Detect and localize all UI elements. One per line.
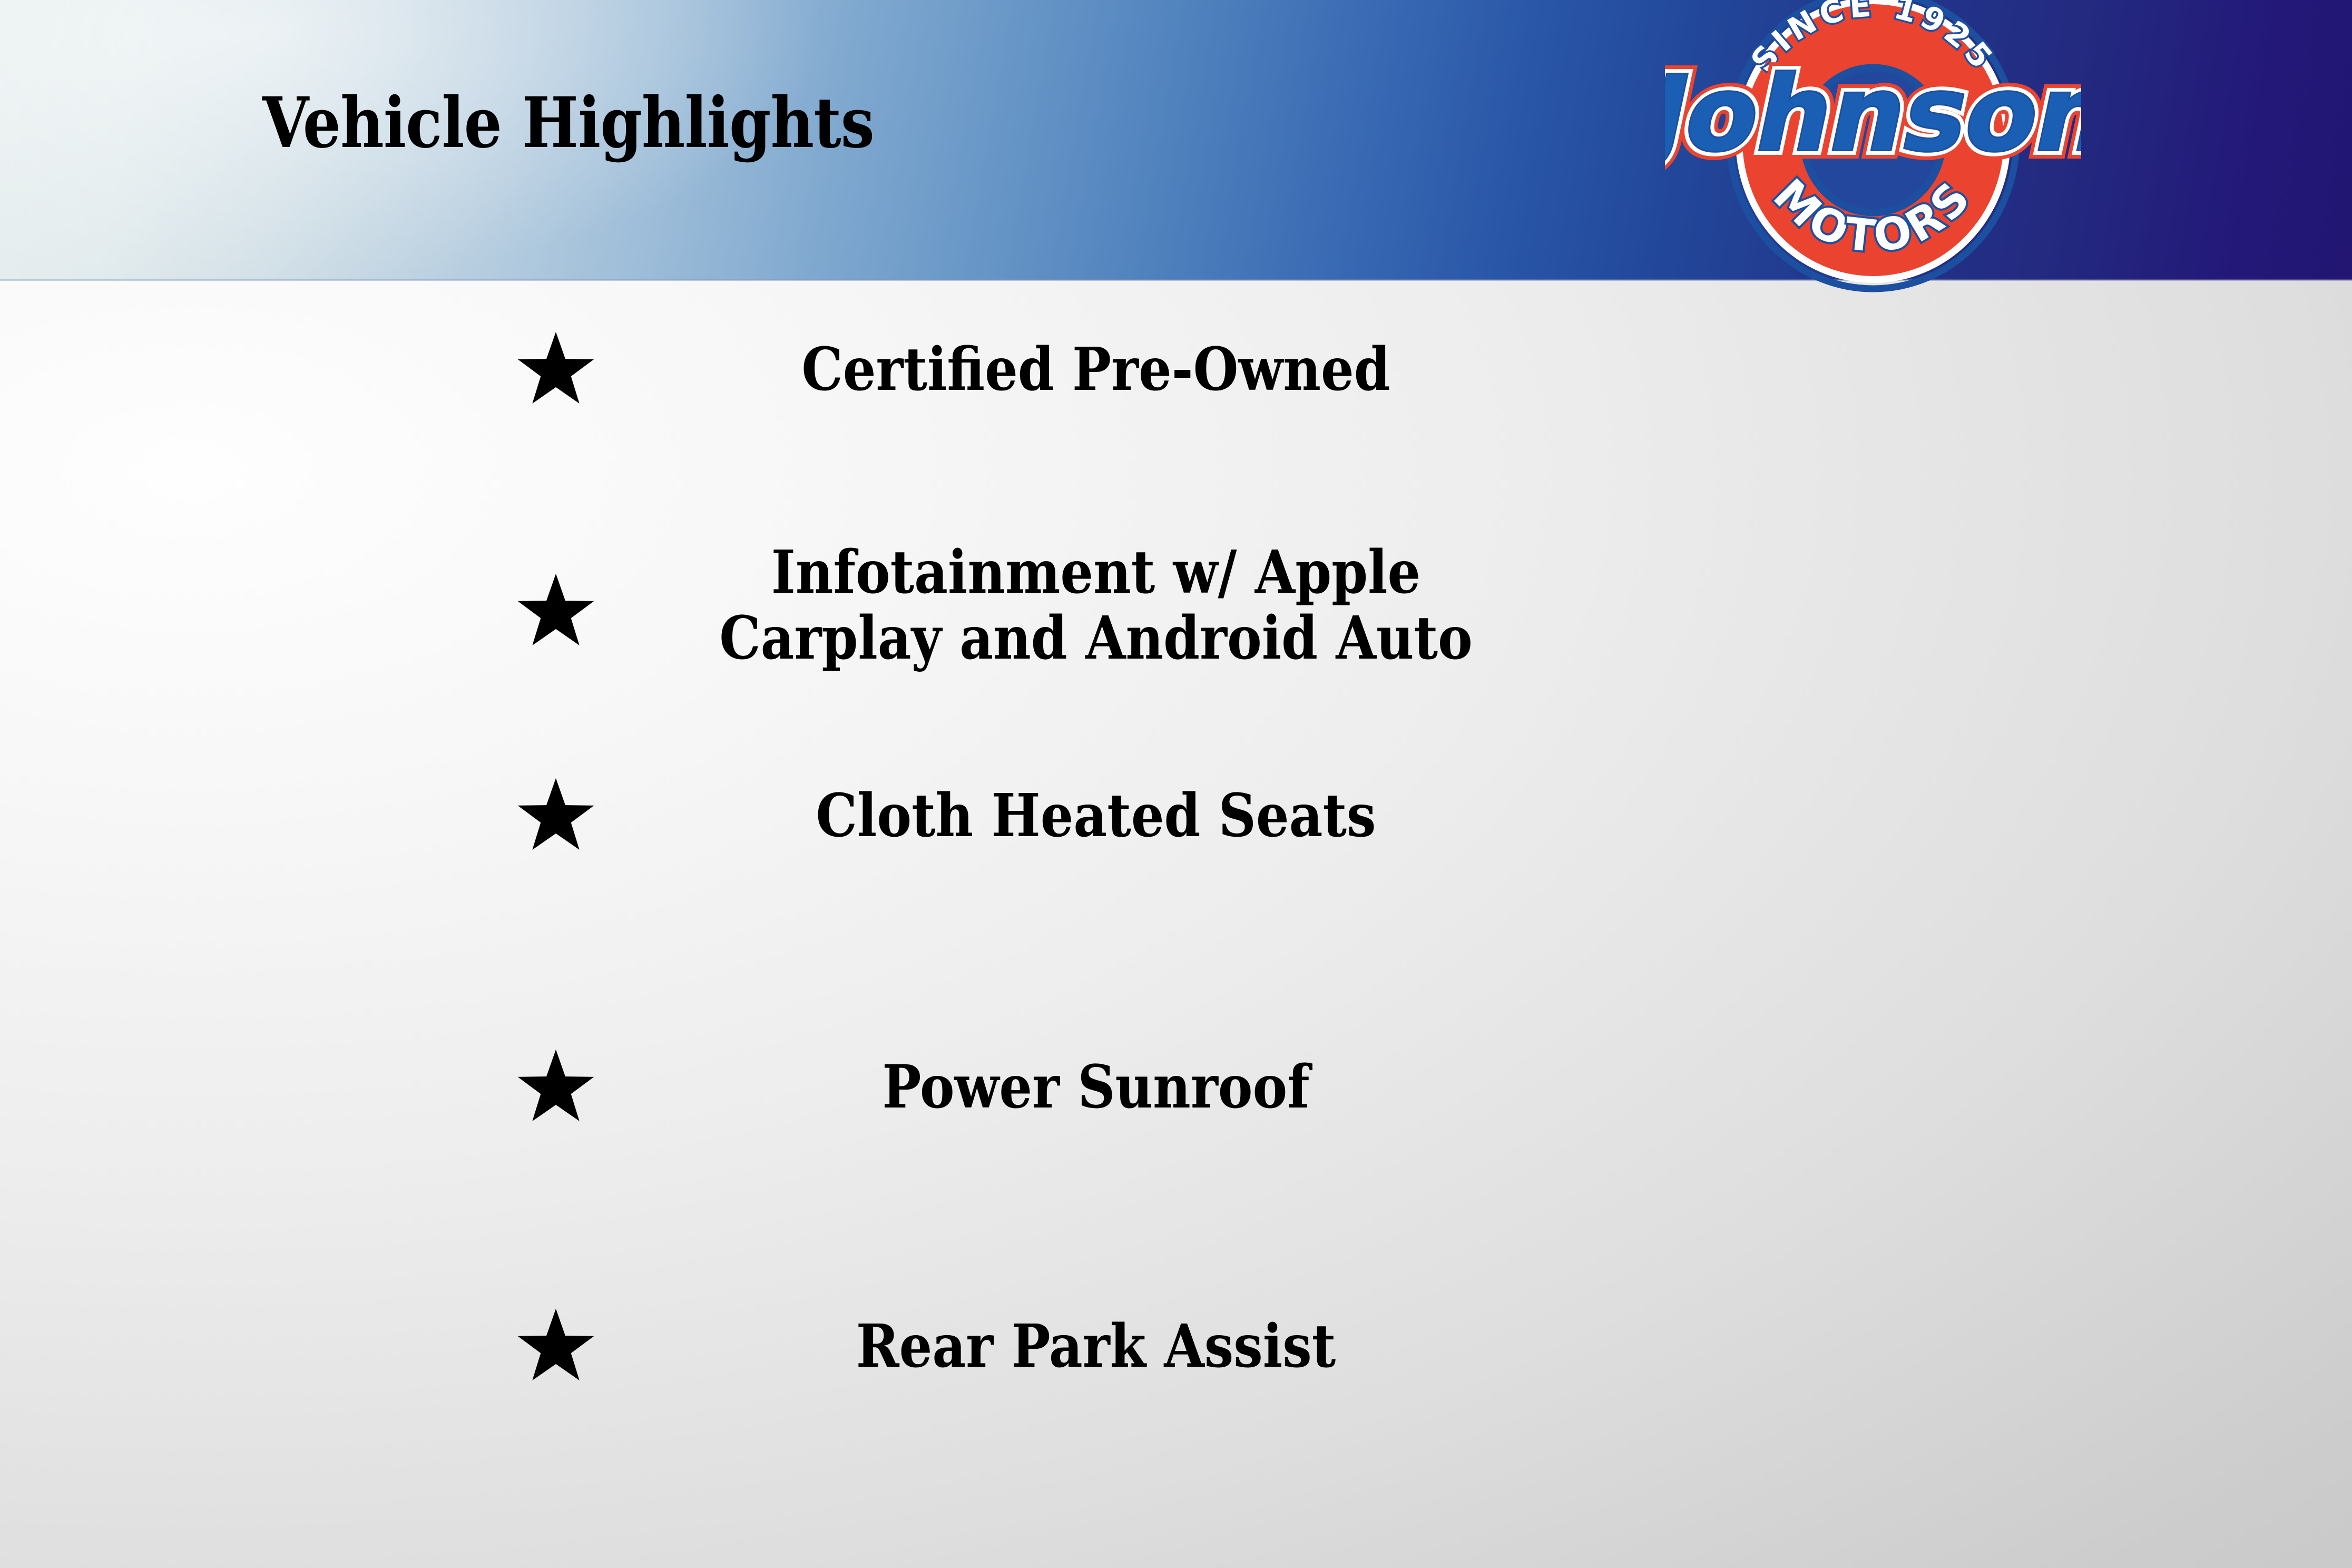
slide-canvas: Vehicle Highlights SINCE 1925 MOTORS <box>0 0 2352 1568</box>
star-bullet-cell <box>514 777 598 857</box>
list-item-label: Rear Park Assist <box>679 1314 1513 1379</box>
list-item-label: Certified Pre-Owned <box>679 337 1513 403</box>
svg-text:Johnson: Johnson <box>1665 54 2081 174</box>
list-item-line: Infotainment w/ Apple <box>679 540 1513 605</box>
list-item-label: Infotainment w/ Apple Carplay and Androi… <box>679 540 1513 672</box>
list-item-line: Carplay and Android Auto <box>679 605 1513 671</box>
list-item-label: Power Sunroof <box>679 1054 1513 1120</box>
logo-wordmark: Johnson Johnson Johnson <box>1665 54 2081 174</box>
star-icon <box>516 330 596 410</box>
list-item-line: Rear Park Assist <box>679 1314 1513 1379</box>
star-bullet-cell <box>514 1307 598 1387</box>
star-icon <box>516 572 596 652</box>
list-item-line: Cloth Heated Seats <box>679 783 1513 849</box>
vehicle-highlights-list: Certified Pre-Owned Infotainment w/ Appl… <box>0 280 2352 1568</box>
star-bullet-cell <box>514 572 598 652</box>
list-item-line: Certified Pre-Owned <box>679 337 1513 403</box>
johnson-motors-logo: SINCE 1925 MOTORS Johnson Johnson Johnso… <box>1665 0 2081 298</box>
star-icon <box>516 777 596 857</box>
star-icon <box>516 1048 596 1128</box>
star-bullet-cell <box>514 1048 598 1128</box>
page-title: Vehicle Highlights <box>262 89 874 158</box>
star-icon <box>516 1307 596 1387</box>
list-item-line: Power Sunroof <box>679 1054 1513 1120</box>
list-item-label: Cloth Heated Seats <box>679 783 1513 849</box>
star-bullet-cell <box>514 330 598 410</box>
